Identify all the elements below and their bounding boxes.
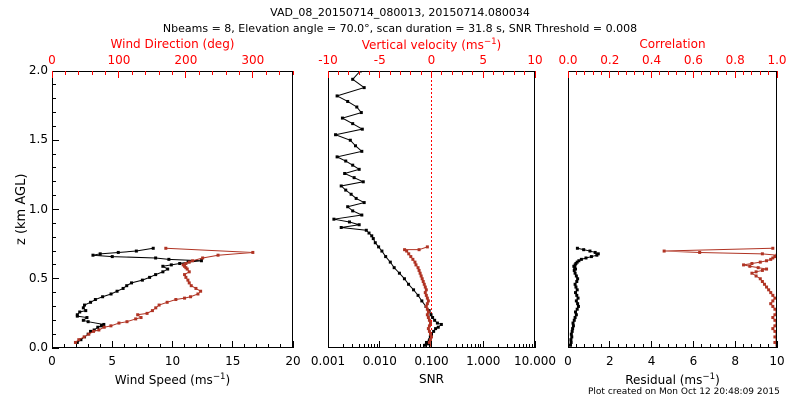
- series-marker: [575, 313, 578, 316]
- series-marker: [588, 250, 591, 253]
- x-axis-bottom-minor-tick: [576, 344, 577, 348]
- series-marker: [569, 344, 572, 347]
- x-axis-bottom-minor-tick: [751, 344, 752, 348]
- x-axis-top-major-tick: [777, 71, 778, 78]
- x-axis-top-minor-tick: [676, 71, 677, 75]
- series-marker: [572, 322, 575, 325]
- x-axis-bottom-tick-label: 6: [690, 354, 698, 368]
- series-marker: [773, 330, 776, 333]
- series-marker: [771, 305, 774, 308]
- series-marker: [776, 310, 779, 313]
- series-marker: [582, 248, 585, 251]
- x-axis-bottom-minor-tick: [768, 344, 769, 348]
- vad-profile-figure: VAD_08_20150714_080013, 20150714.080034 …: [0, 0, 800, 400]
- x-axis-bottom-minor-tick: [710, 344, 711, 348]
- x-axis-bottom-tick-label: 10: [769, 354, 784, 368]
- series-marker: [769, 302, 772, 305]
- series-marker: [773, 335, 776, 338]
- series-marker: [776, 254, 779, 257]
- x-axis-top-tick-label: 0.4: [642, 53, 661, 67]
- series-marker: [742, 263, 745, 266]
- series-marker: [765, 286, 768, 289]
- series-marker: [574, 310, 577, 313]
- series-marker: [576, 308, 579, 311]
- x-axis-bottom-minor-tick: [593, 344, 594, 348]
- series-marker: [584, 256, 587, 259]
- x-axis-top-major-tick: [735, 71, 736, 78]
- series-marker: [569, 338, 572, 341]
- series-marker: [771, 247, 774, 250]
- x-axis-top-minor-tick: [718, 71, 719, 75]
- x-axis-top-tick-label: 0.2: [600, 53, 619, 67]
- series-marker: [750, 272, 753, 275]
- x-axis-bottom-minor-tick: [626, 344, 627, 348]
- x-axis-top-minor-tick: [576, 71, 577, 75]
- x-axis-top-minor-tick: [618, 71, 619, 75]
- x-axis-top-minor-tick: [701, 71, 702, 75]
- series-marker: [773, 308, 776, 311]
- x-axis-top-minor-tick: [685, 71, 686, 75]
- series-marker: [570, 341, 573, 344]
- series-marker: [575, 294, 578, 297]
- x-axis-top-minor-tick: [584, 71, 585, 75]
- x-axis-top-tick-label: 0.6: [684, 53, 703, 67]
- x-axis-bottom-major-tick: [609, 341, 610, 348]
- series-marker: [771, 299, 774, 302]
- x-axis-bottom-minor-tick: [584, 344, 585, 348]
- x-axis-top-major-tick: [609, 71, 610, 78]
- series-marker: [576, 288, 579, 291]
- series-marker: [575, 274, 578, 277]
- series-marker: [755, 270, 758, 273]
- series-marker: [776, 322, 779, 325]
- series-marker: [698, 251, 701, 254]
- series-marker: [750, 262, 753, 265]
- series-marker: [773, 319, 776, 322]
- x-axis-bottom-minor-tick: [643, 344, 644, 348]
- series-marker: [763, 283, 766, 286]
- series-marker: [577, 297, 580, 300]
- series-marker: [663, 250, 666, 253]
- series-marker: [765, 268, 768, 271]
- series-marker: [570, 335, 573, 338]
- series-marker: [577, 305, 580, 308]
- series-marker: [594, 251, 597, 254]
- series-marker: [570, 333, 573, 336]
- series-marker: [575, 299, 578, 302]
- series-marker: [576, 302, 579, 305]
- series-marker: [748, 265, 751, 268]
- x-axis-top-minor-tick: [593, 71, 594, 75]
- x-axis-bottom-major-tick: [777, 341, 778, 348]
- series-marker: [574, 283, 577, 286]
- x-axis-top-minor-tick: [710, 71, 711, 75]
- x-axis-bottom-minor-tick: [718, 344, 719, 348]
- series-marker: [571, 330, 574, 333]
- x-axis-bottom-minor-tick: [618, 344, 619, 348]
- x-axis-bottom-tick-label: 8: [731, 354, 739, 368]
- x-axis-top-minor-tick: [601, 71, 602, 75]
- x-axis-top-minor-tick: [743, 71, 744, 75]
- x-axis-top-tick-label: 0.8: [726, 53, 745, 67]
- x-axis-bottom-minor-tick: [685, 344, 686, 348]
- series-marker: [769, 291, 772, 294]
- series-marker: [574, 272, 577, 275]
- series-marker: [776, 333, 779, 336]
- series-marker: [759, 261, 762, 264]
- series-marker: [590, 255, 593, 258]
- series-marker: [761, 280, 764, 283]
- x-axis-bottom-minor-tick: [676, 344, 677, 348]
- series-marker: [574, 316, 577, 319]
- x-axis-bottom-minor-tick: [701, 344, 702, 348]
- x-axis-top-title-panel-3: Correlation: [639, 37, 705, 51]
- x-axis-bottom-minor-tick: [726, 344, 727, 348]
- series-marker: [761, 252, 764, 255]
- x-axis-bottom-major-tick: [568, 341, 569, 348]
- series-marker: [773, 297, 776, 300]
- x-axis-top-major-tick: [693, 71, 694, 78]
- x-axis-top-minor-tick: [634, 71, 635, 75]
- x-axis-bottom-tick-label: 2: [606, 354, 614, 368]
- x-axis-bottom-title-panel-3: Residual (ms−1): [625, 372, 720, 387]
- series-marker: [771, 327, 774, 330]
- series-marker: [761, 269, 764, 272]
- series-marker: [771, 294, 774, 297]
- x-axis-top-minor-tick: [626, 71, 627, 75]
- x-axis-top-major-tick: [568, 71, 569, 78]
- series-marker: [757, 266, 760, 269]
- series-marker: [767, 288, 770, 291]
- x-axis-top-tick-label: 0.0: [558, 53, 577, 67]
- x-axis-bottom-minor-tick: [760, 344, 761, 348]
- x-axis-bottom-minor-tick: [668, 344, 669, 348]
- series-marker: [573, 319, 576, 322]
- series-marker: [773, 324, 776, 327]
- series-marker: [759, 277, 762, 280]
- x-axis-bottom-tick-label: 4: [648, 354, 656, 368]
- series-marker: [571, 327, 574, 330]
- x-axis-top-minor-tick: [760, 71, 761, 75]
- x-axis-bottom-minor-tick: [601, 344, 602, 348]
- x-axis-top-minor-tick: [668, 71, 669, 75]
- x-axis-bottom-major-tick: [693, 341, 694, 348]
- series-marker: [755, 274, 758, 277]
- series-marker: [576, 277, 579, 280]
- series-marker: [765, 259, 768, 262]
- x-axis-bottom-major-tick: [651, 341, 652, 348]
- x-axis-bottom-minor-tick: [634, 344, 635, 348]
- x-axis-top-minor-tick: [726, 71, 727, 75]
- x-axis-top-minor-tick: [751, 71, 752, 75]
- series-marker: [771, 316, 774, 319]
- x-axis-top-major-tick: [651, 71, 652, 78]
- x-axis-top-minor-tick: [659, 71, 660, 75]
- x-axis-bottom-minor-tick: [743, 344, 744, 348]
- series-marker: [575, 280, 578, 283]
- x-axis-top-minor-tick: [768, 71, 769, 75]
- x-axis-bottom-minor-tick: [659, 344, 660, 348]
- panel-3-data-layer: [0, 0, 800, 400]
- series-marker: [597, 252, 600, 255]
- x-axis-top-tick-label: 1.0: [767, 53, 786, 67]
- series-marker: [580, 258, 583, 261]
- series-marker: [574, 291, 577, 294]
- series-marker: [576, 247, 579, 250]
- x-axis-bottom-tick-label: 0: [564, 354, 572, 368]
- x-axis-top-minor-tick: [643, 71, 644, 75]
- series-marker: [574, 286, 577, 289]
- series-marker: [773, 313, 776, 316]
- x-axis-bottom-major-tick: [735, 341, 736, 348]
- series-marker: [572, 324, 575, 327]
